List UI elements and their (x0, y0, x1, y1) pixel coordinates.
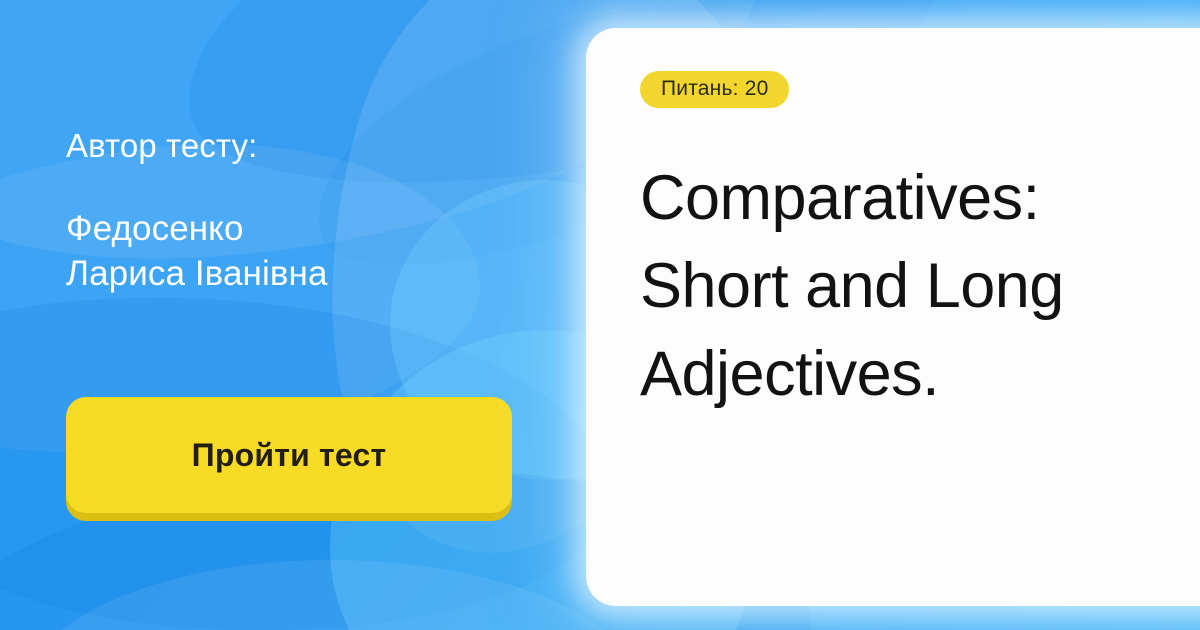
author-pane: Автор тесту: Федосенко Лариса Іванівна П… (0, 0, 586, 630)
take-test-button[interactable]: Пройти тест (66, 397, 512, 513)
author-name-line-1: Федосенко (66, 206, 328, 251)
test-info-card: Питань: 20 Comparatives: Short and Long … (586, 28, 1200, 606)
test-share-card: Автор тесту: Федосенко Лариса Іванівна П… (0, 0, 1200, 630)
questions-count-badge: Питань: 20 (640, 71, 789, 108)
test-title: Comparatives: Short and Long Adjectives. (640, 154, 1110, 418)
take-test-button-label: Пройти тест (192, 437, 387, 474)
author-name: Федосенко Лариса Іванівна (66, 206, 328, 296)
author-name-line-2: Лариса Іванівна (66, 251, 328, 296)
author-label: Автор тесту: (66, 127, 257, 165)
